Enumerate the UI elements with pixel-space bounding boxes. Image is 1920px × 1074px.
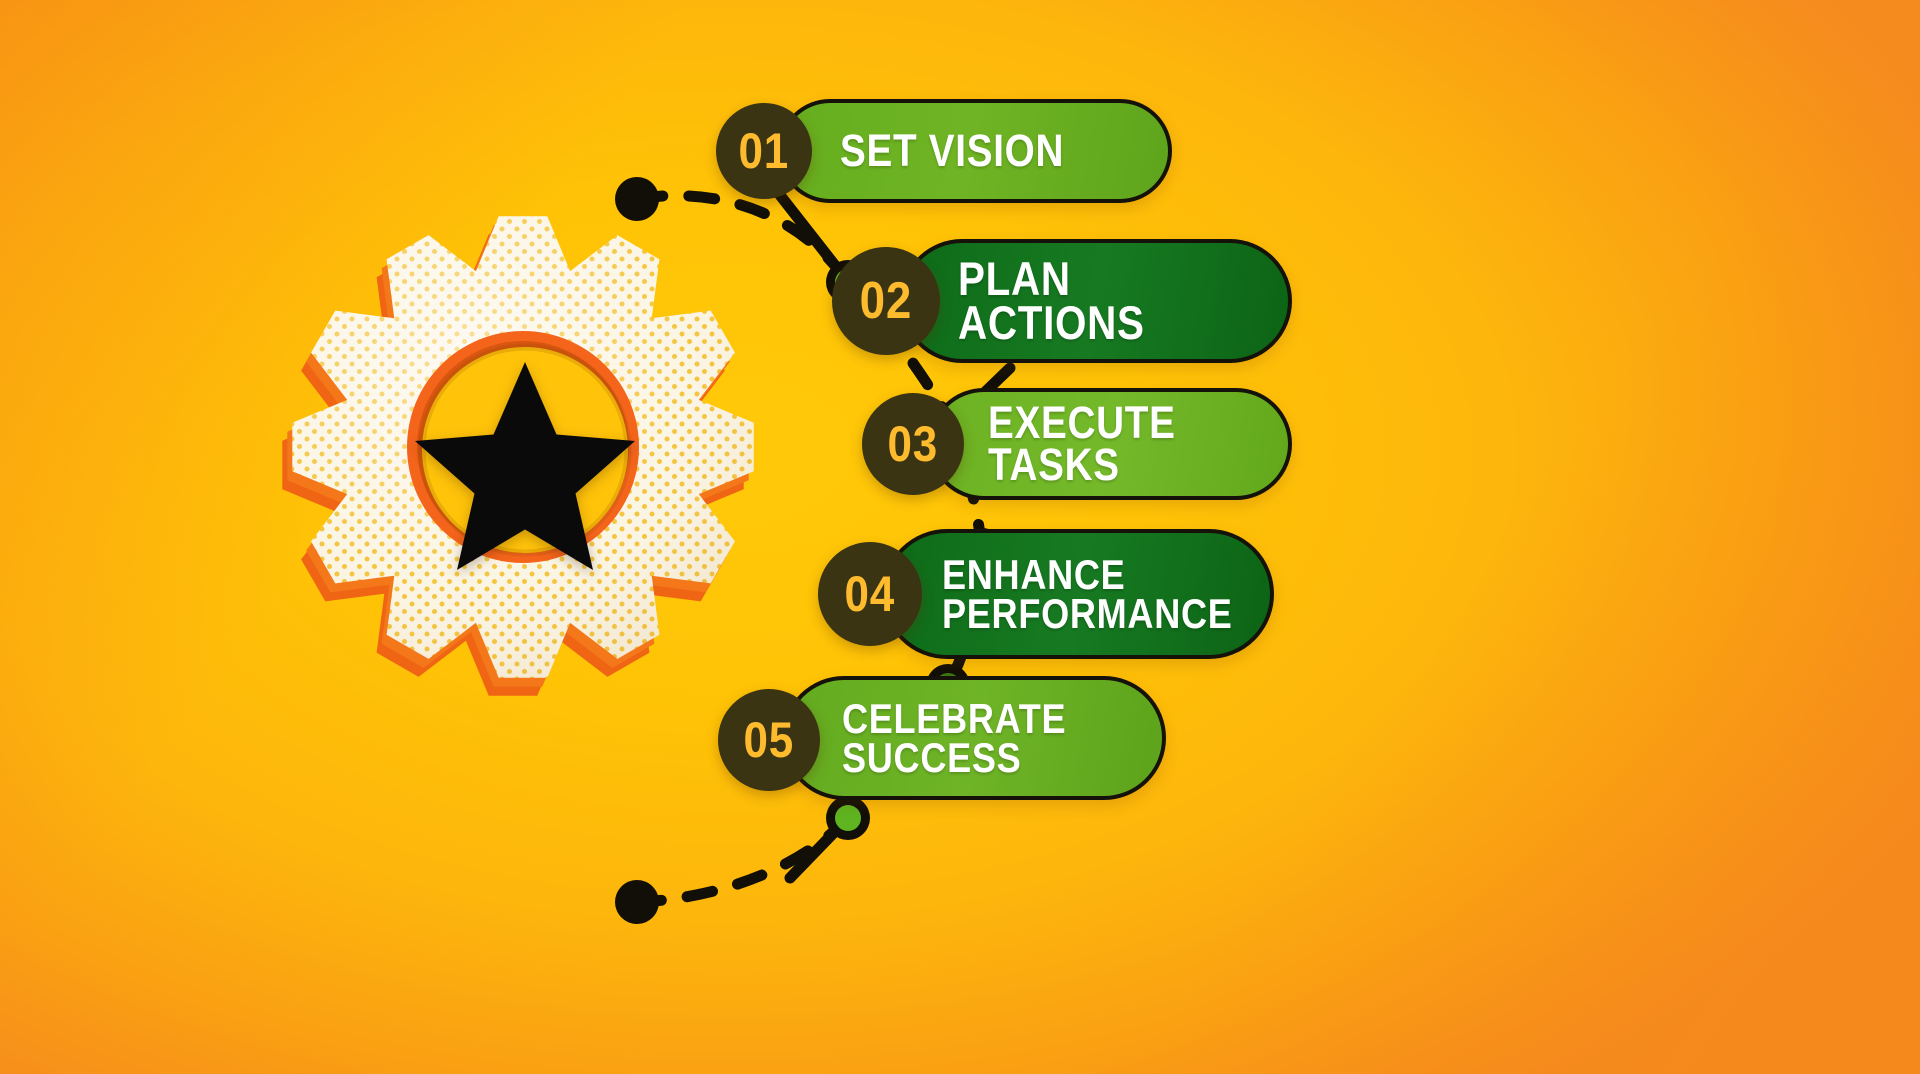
- terminus-dot-bottom: [615, 880, 659, 924]
- step-badge-5[interactable]: 05: [718, 689, 820, 791]
- step-badge-2[interactable]: 02: [832, 247, 940, 355]
- step-label-5: CELEBRATE SUCCESS: [842, 699, 1066, 778]
- step-number-4: 04: [845, 565, 896, 623]
- node-5[interactable]: [826, 796, 870, 840]
- step-number-5: 05: [744, 711, 795, 769]
- step-label-2: PLAN ACTIONS: [958, 257, 1242, 345]
- step-label-4: ENHANCE PERFORMANCE: [942, 555, 1233, 634]
- step-bar-4[interactable]: ENHANCE PERFORMANCE: [882, 529, 1274, 659]
- step-badge-3[interactable]: 03: [862, 393, 964, 495]
- step-number-3: 03: [888, 415, 939, 473]
- infographic-stage: 01 SET VISION 02 PLAN ACTIONS 03 EXECUTE…: [0, 0, 1920, 1074]
- step-badge-1[interactable]: 01: [716, 103, 812, 199]
- step-number-2: 02: [860, 271, 913, 331]
- step-badge-4[interactable]: 04: [818, 542, 922, 646]
- step-row-1[interactable]: 01 SET VISION: [778, 99, 1172, 203]
- step-number-1: 01: [739, 122, 790, 180]
- step-row-3[interactable]: 03 EXECUTE TASKS: [928, 388, 1292, 500]
- step-row-5[interactable]: 05 CELEBRATE SUCCESS: [782, 676, 1166, 800]
- terminus-dot-top: [615, 177, 659, 221]
- step-label-3: EXECUTE TASKS: [988, 402, 1246, 487]
- step-row-2[interactable]: 02 PLAN ACTIONS: [900, 239, 1292, 363]
- step-label-1: SET VISION: [840, 130, 1064, 172]
- step-bar-2[interactable]: PLAN ACTIONS: [900, 239, 1292, 363]
- step-bar-1[interactable]: SET VISION: [778, 99, 1172, 203]
- step-bar-5[interactable]: CELEBRATE SUCCESS: [782, 676, 1166, 800]
- step-bar-3[interactable]: EXECUTE TASKS: [928, 388, 1292, 500]
- step-row-4[interactable]: 04 ENHANCE PERFORMANCE: [882, 529, 1274, 659]
